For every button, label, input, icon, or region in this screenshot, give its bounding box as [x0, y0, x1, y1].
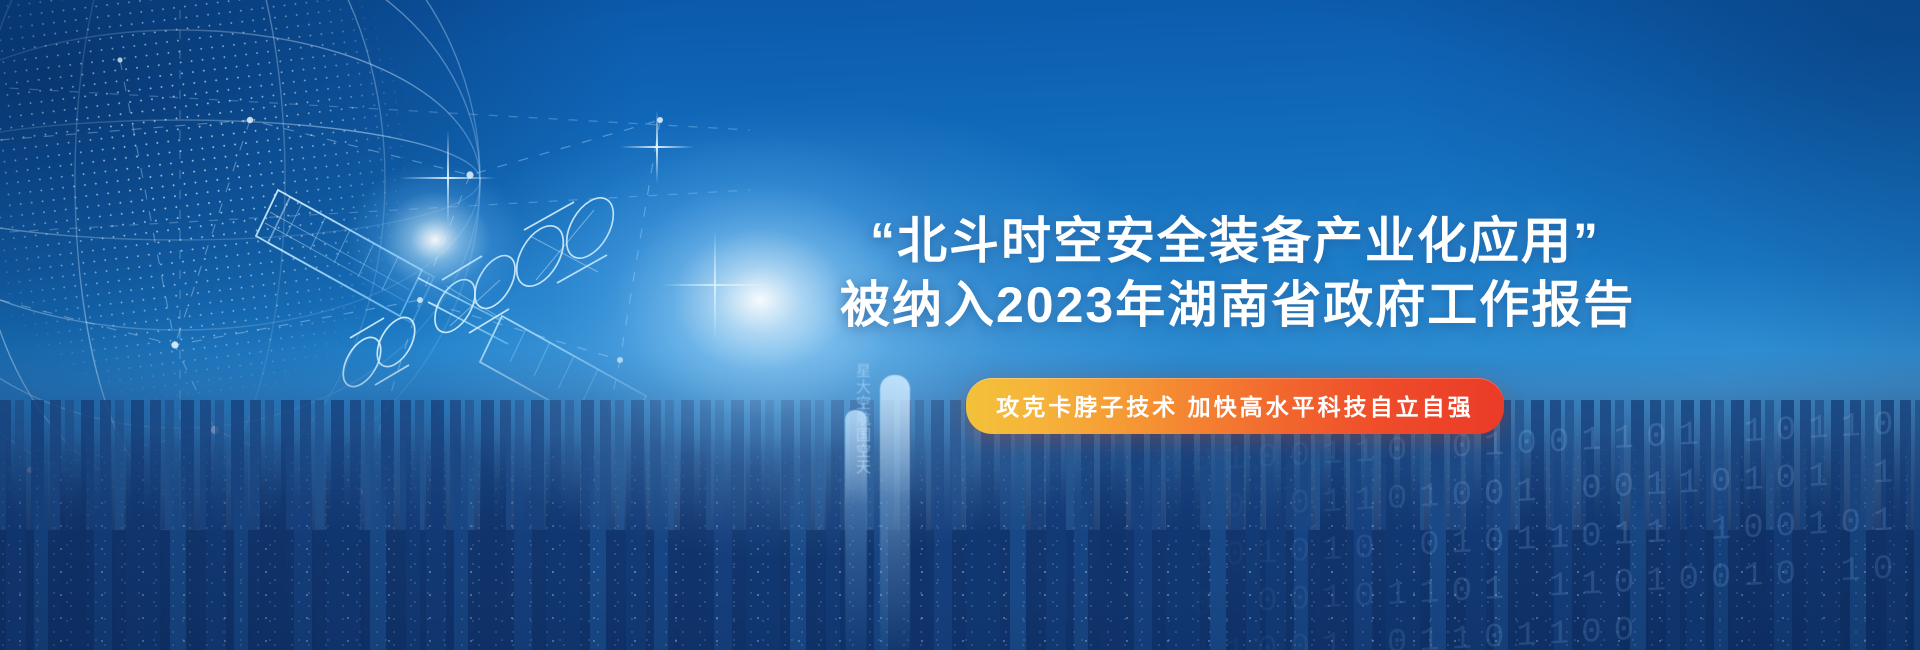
headline-line-1-text: 北斗时空安全装备产业化应用 — [897, 213, 1573, 269]
hero-banner: 星大空航国空天 10100110 01001101 10110010 01101… — [0, 0, 1920, 650]
headline-block: “北斗时空安全装备产业化应用” 被纳入2023年湖南省政府工作报告 — [840, 212, 1630, 334]
quote-close: ” — [1573, 213, 1600, 269]
headline-line-1: “北斗时空安全装备产业化应用” — [840, 212, 1630, 270]
quote-open: “ — [870, 213, 897, 269]
binary-data-overlay: 10100110 01001101 10110010 01101001 0011… — [1160, 400, 1920, 650]
slogan-pill[interactable]: 攻克卡脖子技术 加快高水平科技自立自强 — [966, 378, 1503, 434]
slogan-pill-wrap: 攻克卡脖子技术 加快高水平科技自立自强 — [840, 378, 1630, 434]
headline-line-2: 被纳入2023年湖南省政府工作报告 — [840, 276, 1630, 334]
